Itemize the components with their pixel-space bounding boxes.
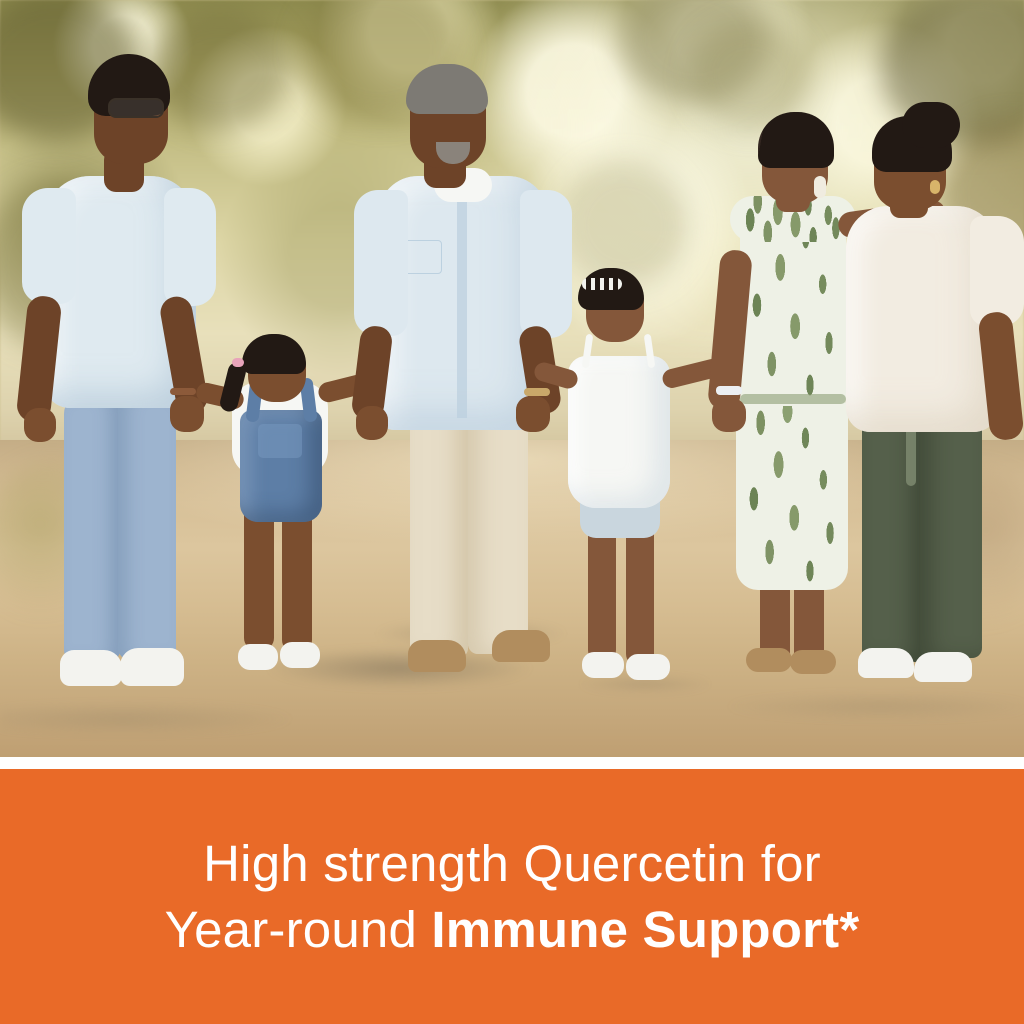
hand (516, 396, 550, 432)
overall-pocket (258, 424, 302, 458)
hair-tie (232, 358, 244, 367)
olive-trousers (920, 410, 982, 658)
sundress (568, 356, 670, 508)
wristwatch (716, 386, 742, 395)
leg (626, 516, 654, 666)
sneaker (120, 648, 184, 686)
shirt-pocket (402, 240, 442, 274)
shirt-placket (457, 196, 467, 418)
earring (930, 180, 940, 194)
bracelet (170, 388, 196, 395)
eyeglasses (108, 98, 164, 118)
hair-bun (902, 102, 960, 148)
hand (170, 396, 204, 432)
caption-line-2: Year-round Immune Support* (165, 897, 860, 963)
tshirt-sleeve (970, 216, 1024, 326)
caption-line-2-regular: Year-round (165, 901, 432, 958)
leather-shoe (408, 640, 466, 672)
jeans (118, 392, 176, 660)
hand (712, 398, 746, 432)
flat-shoe (914, 652, 972, 682)
khaki-trousers (468, 400, 528, 654)
tshirt-sleeve (164, 188, 216, 306)
wristwatch (524, 388, 550, 396)
leather-shoe (492, 630, 550, 662)
leg (282, 500, 312, 652)
strappy-sandal (790, 650, 836, 674)
caption-line-1: High strength Quercetin for (203, 831, 821, 897)
jeans (64, 392, 120, 662)
shirt-sleeve (520, 190, 572, 338)
hand (24, 408, 56, 442)
earring (814, 176, 826, 198)
sandal (626, 654, 670, 680)
flat-shoe (858, 648, 914, 678)
sneaker (60, 650, 122, 686)
sandal (238, 644, 278, 670)
khaki-trousers (410, 400, 468, 658)
leaf-print-skirt (736, 400, 848, 590)
strappy-sandal (746, 648, 792, 672)
hand (356, 406, 388, 440)
waist-tie (740, 394, 846, 404)
shirt-sleeve (354, 190, 408, 336)
caption-banner: High strength Quercetin for Year-round I… (0, 769, 1024, 1024)
leg (244, 500, 274, 650)
foliage-blob (150, 10, 290, 130)
caption-line-2-bold: Immune Support* (431, 901, 859, 958)
tshirt-sleeve (22, 188, 76, 304)
lifestyle-photo (0, 0, 1024, 757)
sandal (582, 652, 624, 678)
white-divider (0, 757, 1024, 769)
hair-beads (582, 278, 622, 290)
sandal (280, 642, 320, 668)
product-lifestyle-banner: High strength Quercetin for Year-round I… (0, 0, 1024, 1024)
